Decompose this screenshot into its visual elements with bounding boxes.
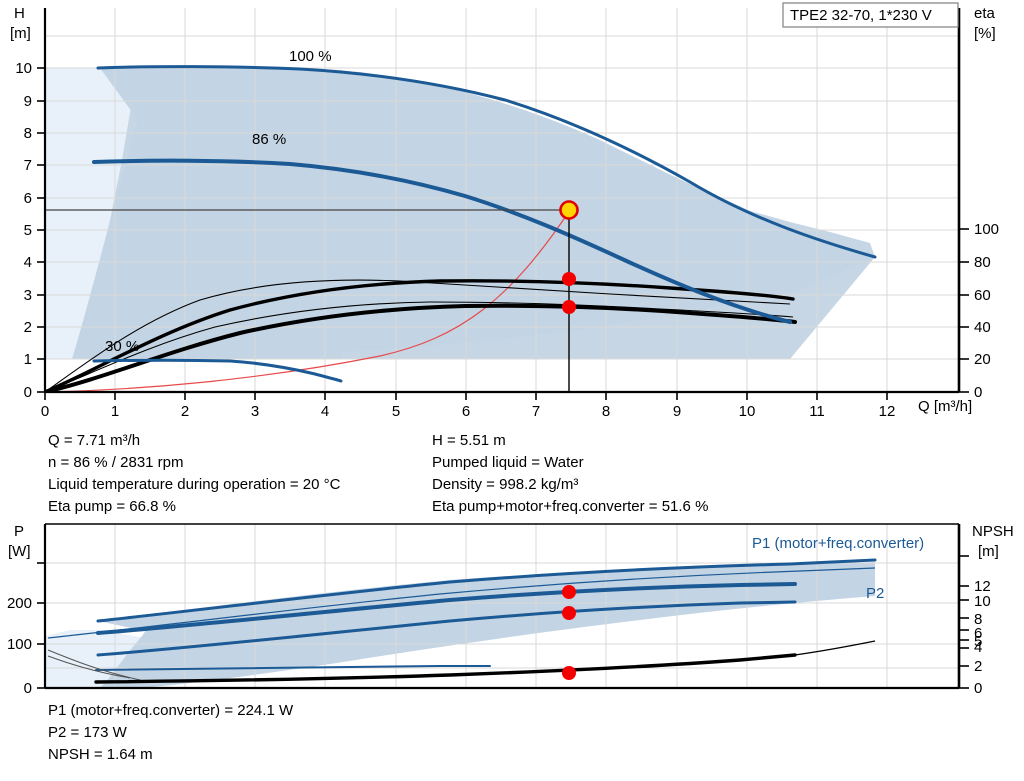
y-tick-labels-right: 100 80 60 40 20 0 bbox=[974, 221, 999, 401]
h-axis-label-line2: [m] bbox=[10, 25, 31, 42]
readout-n: n = 86 % / 2831 rpm bbox=[48, 452, 340, 474]
readout-p1: P1 (motor+freq.converter) = 224.1 W bbox=[48, 700, 293, 722]
npsh-tick-labels: 12 10 8 6 5 4 2 0 bbox=[974, 578, 991, 697]
svg-text:200: 200 bbox=[7, 595, 32, 612]
svg-text:7: 7 bbox=[532, 403, 540, 420]
svg-text:20: 20 bbox=[974, 351, 991, 368]
svg-text:100: 100 bbox=[974, 221, 999, 238]
p2-duty-dot bbox=[562, 606, 576, 620]
svg-text:6: 6 bbox=[24, 190, 32, 207]
q-axis-label: Q [m³/h] bbox=[918, 398, 972, 415]
svg-text:2: 2 bbox=[974, 658, 982, 675]
readout-top-left: Q = 7.71 m³/h n = 86 % / 2831 rpm Liquid… bbox=[48, 430, 340, 518]
svg-text:0: 0 bbox=[41, 403, 49, 420]
readout-density: Density = 998.2 kg/m³ bbox=[432, 474, 708, 496]
h-axis-label-line1: H bbox=[14, 5, 25, 22]
svg-text:8: 8 bbox=[24, 125, 32, 142]
svg-text:7: 7 bbox=[24, 157, 32, 174]
readout-q: Q = 7.71 m³/h bbox=[48, 430, 340, 452]
npsh-duty-dot bbox=[562, 666, 576, 680]
head-efficiency-chart: 10 9 8 7 6 5 4 3 2 1 0 100 80 60 40 20 bbox=[0, 0, 1024, 425]
eta-pump-duty-dot bbox=[562, 272, 576, 286]
npsh-ticks bbox=[959, 556, 969, 688]
x-ticks bbox=[45, 392, 887, 400]
y-ticks-right bbox=[959, 229, 969, 392]
p-ticks bbox=[37, 563, 45, 688]
readout-liquid-temp: Liquid temperature during operation = 20… bbox=[48, 474, 340, 496]
y-tick-labels-left: 10 9 8 7 6 5 4 3 2 1 0 bbox=[15, 60, 32, 401]
svg-text:4: 4 bbox=[321, 403, 329, 420]
p2-series-label: P2 bbox=[866, 585, 884, 602]
readout-p2: P2 = 173 W bbox=[48, 722, 293, 744]
eta-total-duty-dot bbox=[562, 300, 576, 314]
svg-text:80: 80 bbox=[974, 254, 991, 271]
svg-text:10: 10 bbox=[974, 593, 991, 610]
chart-title: TPE2 32-70, 1*230 V bbox=[790, 7, 932, 24]
curve-label-100: 100 % bbox=[289, 48, 332, 65]
svg-text:6: 6 bbox=[462, 403, 470, 420]
svg-text:100: 100 bbox=[7, 636, 32, 653]
y-ticks-left bbox=[37, 68, 45, 392]
svg-text:4: 4 bbox=[974, 639, 982, 656]
curve-label-86: 86 % bbox=[252, 131, 286, 148]
p-tick-labels: 200 100 0 bbox=[7, 595, 32, 697]
readout-eta-total: Eta pump+motor+freq.converter = 51.6 % bbox=[432, 496, 708, 518]
svg-text:4: 4 bbox=[24, 254, 32, 271]
eta-axis-label-line2: [%] bbox=[974, 25, 996, 42]
duty-point-marker[interactable] bbox=[561, 202, 578, 219]
power-npsh-chart: 200 100 0 12 10 8 6 5 4 2 0 P [W bbox=[0, 518, 1024, 728]
readout-top-right: H = 5.51 m Pumped liquid = Water Density… bbox=[432, 430, 708, 518]
svg-text:3: 3 bbox=[24, 287, 32, 304]
readout-h: H = 5.51 m bbox=[432, 430, 708, 452]
svg-text:10: 10 bbox=[15, 60, 32, 77]
p1-series-label: P1 (motor+freq.converter) bbox=[752, 535, 924, 552]
svg-text:9: 9 bbox=[673, 403, 681, 420]
svg-text:3: 3 bbox=[251, 403, 259, 420]
svg-text:2: 2 bbox=[24, 319, 32, 336]
readout-eta-pump: Eta pump = 66.8 % bbox=[48, 496, 340, 518]
svg-text:0: 0 bbox=[974, 680, 982, 697]
svg-text:2: 2 bbox=[181, 403, 189, 420]
pump-curve-page: 10 9 8 7 6 5 4 3 2 1 0 100 80 60 40 20 bbox=[0, 0, 1024, 781]
p-axis-label-line2: [W] bbox=[8, 543, 31, 560]
svg-text:60: 60 bbox=[974, 287, 991, 304]
p1-duty-dot bbox=[562, 585, 576, 599]
curve-label-30: 30 % bbox=[105, 338, 139, 355]
svg-text:0: 0 bbox=[24, 384, 32, 401]
svg-text:5: 5 bbox=[24, 222, 32, 239]
svg-text:40: 40 bbox=[974, 319, 991, 336]
eta-axis-label-line1: eta bbox=[974, 5, 996, 22]
svg-text:11: 11 bbox=[809, 403, 825, 420]
readout-pumped-liquid: Pumped liquid = Water bbox=[432, 452, 708, 474]
svg-text:1: 1 bbox=[24, 351, 32, 368]
svg-text:10: 10 bbox=[739, 403, 756, 420]
svg-text:1: 1 bbox=[111, 403, 119, 420]
svg-text:12: 12 bbox=[879, 403, 896, 420]
svg-text:0: 0 bbox=[24, 680, 32, 697]
npsh-axis-label-line2: [m] bbox=[978, 543, 999, 560]
npsh-axis-label-line1: NPSH bbox=[972, 523, 1014, 540]
readout-bottom: P1 (motor+freq.converter) = 224.1 W P2 =… bbox=[48, 700, 293, 766]
svg-text:8: 8 bbox=[602, 403, 610, 420]
readout-npsh: NPSH = 1.64 m bbox=[48, 744, 293, 766]
svg-text:5: 5 bbox=[392, 403, 400, 420]
p-axis-label-line1: P bbox=[14, 523, 24, 540]
svg-text:0: 0 bbox=[974, 384, 982, 401]
x-tick-labels: 0 1 2 3 4 5 6 7 8 9 10 11 12 bbox=[41, 403, 896, 420]
svg-text:9: 9 bbox=[24, 93, 32, 110]
